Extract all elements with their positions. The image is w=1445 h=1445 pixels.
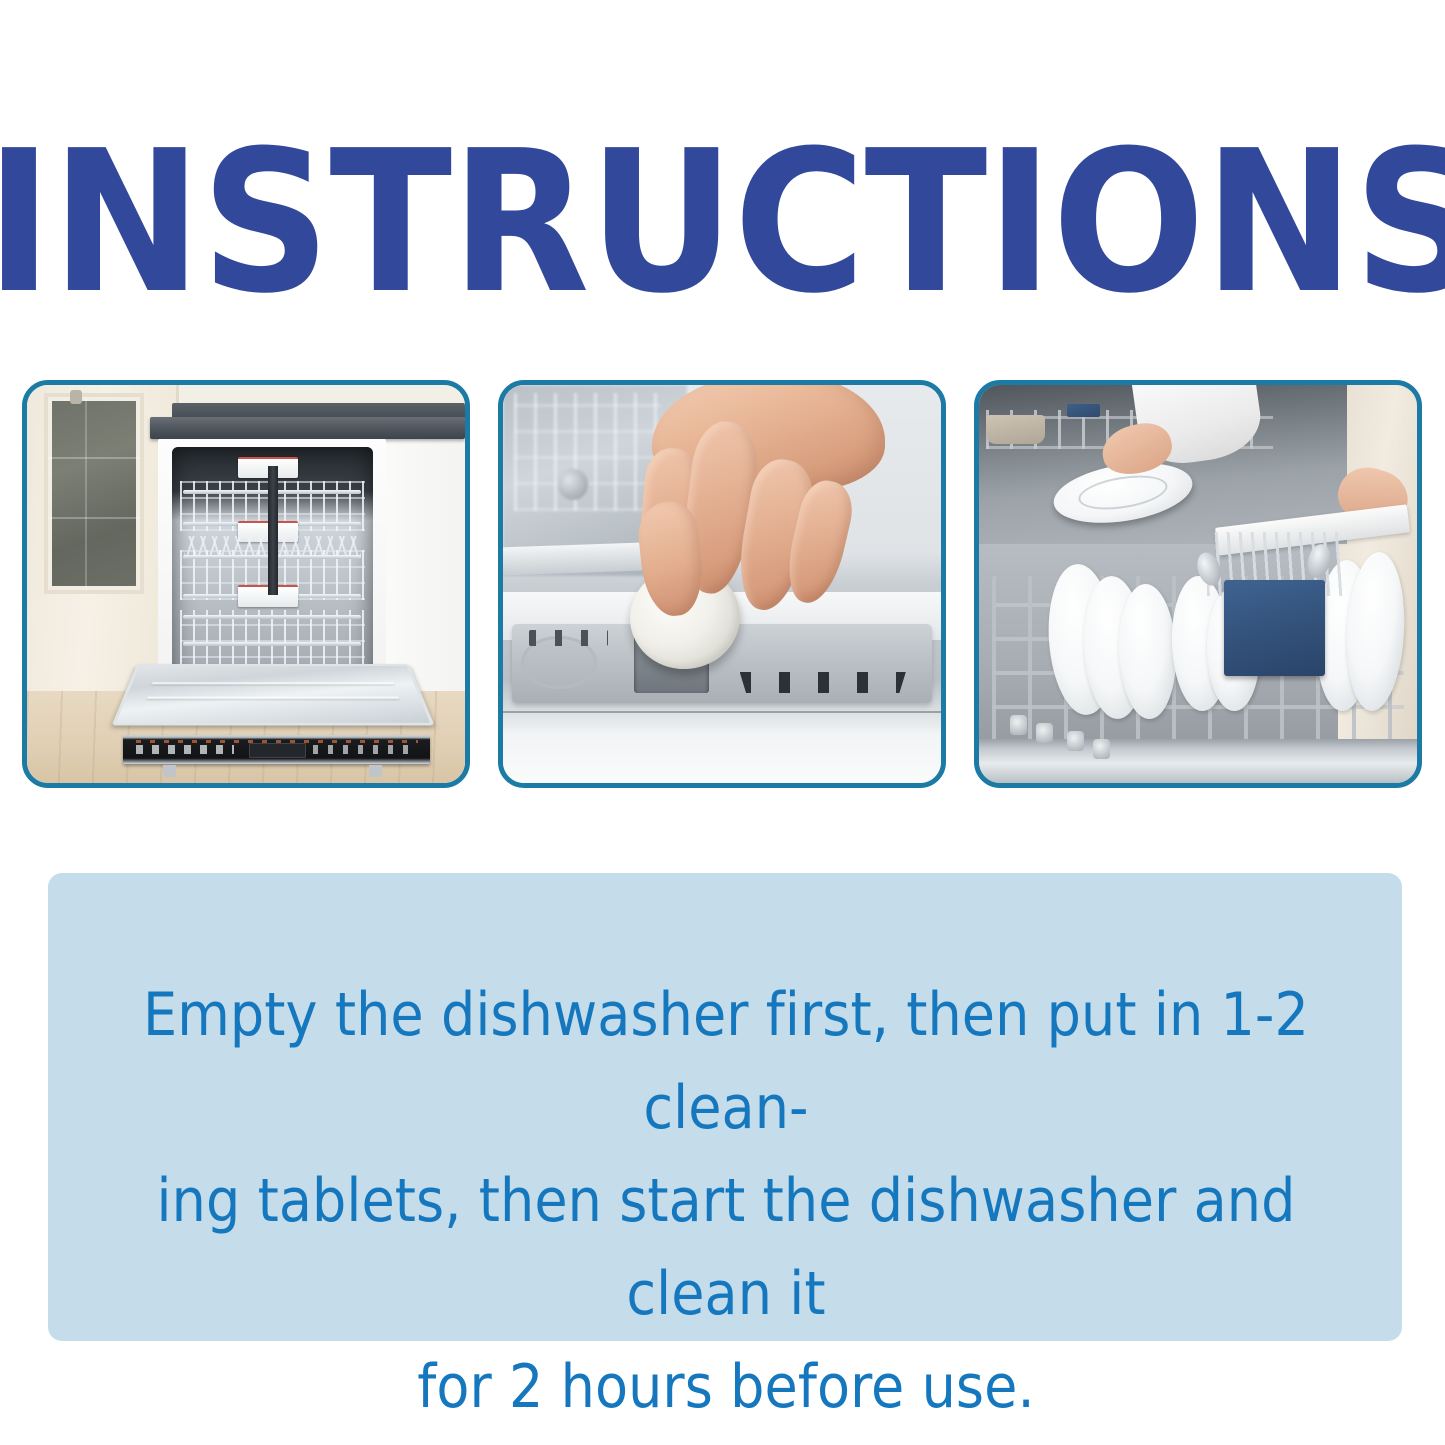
hand <box>630 385 902 632</box>
upper-rack-blue-clip <box>1067 404 1100 417</box>
control-panel-buttons-left <box>136 745 234 754</box>
cabinet-glass-mullion <box>85 397 87 590</box>
photo-panel-empty-dishwasher <box>22 380 470 788</box>
page-title: INSTRUCTIONS <box>0 125 1445 321</box>
control-panel-buttons-right <box>313 745 417 754</box>
dishwasher-foot-right <box>369 765 382 777</box>
upper-rack-bowls <box>986 415 1045 444</box>
interior-spray-disc <box>558 469 587 500</box>
cabinet-frosted-glass <box>48 397 140 590</box>
countertop <box>150 417 465 439</box>
rack-wheel-1 <box>1010 715 1028 735</box>
door-inner-lower <box>503 711 941 783</box>
instruction-body-text: Empty the dishwasher first, then put in … <box>136 969 1316 1434</box>
photo-panel-load-dishes <box>974 380 1422 788</box>
control-panel-display <box>249 743 306 759</box>
cutlery-basket <box>1224 580 1325 676</box>
door-edge <box>979 739 1417 783</box>
photo-empty-open-dishwasher-image <box>27 385 465 783</box>
dishwasher-foot-left <box>163 765 176 777</box>
dishwasher-control-panel <box>123 735 430 764</box>
dishwasher-open-door <box>111 664 433 725</box>
cabinet-knob <box>70 390 82 404</box>
rack-wheel-4 <box>1093 739 1111 759</box>
dispenser-vent-holes <box>529 630 608 646</box>
rack-wheel-2 <box>1036 723 1054 743</box>
photo-panel-insert-tablet <box>498 380 946 788</box>
photo-loading-dishes-image <box>979 385 1417 783</box>
instruction-text-box: Empty the dishwasher first, then put in … <box>48 873 1402 1341</box>
dishwasher-interior <box>172 447 373 694</box>
instruction-photo-row <box>22 380 1422 788</box>
photo-hand-placing-tablet-image <box>503 385 941 783</box>
dishwasher-center-column <box>268 466 278 594</box>
dispenser-triangle-vents <box>740 672 906 694</box>
rack-wheel-3 <box>1067 731 1085 751</box>
